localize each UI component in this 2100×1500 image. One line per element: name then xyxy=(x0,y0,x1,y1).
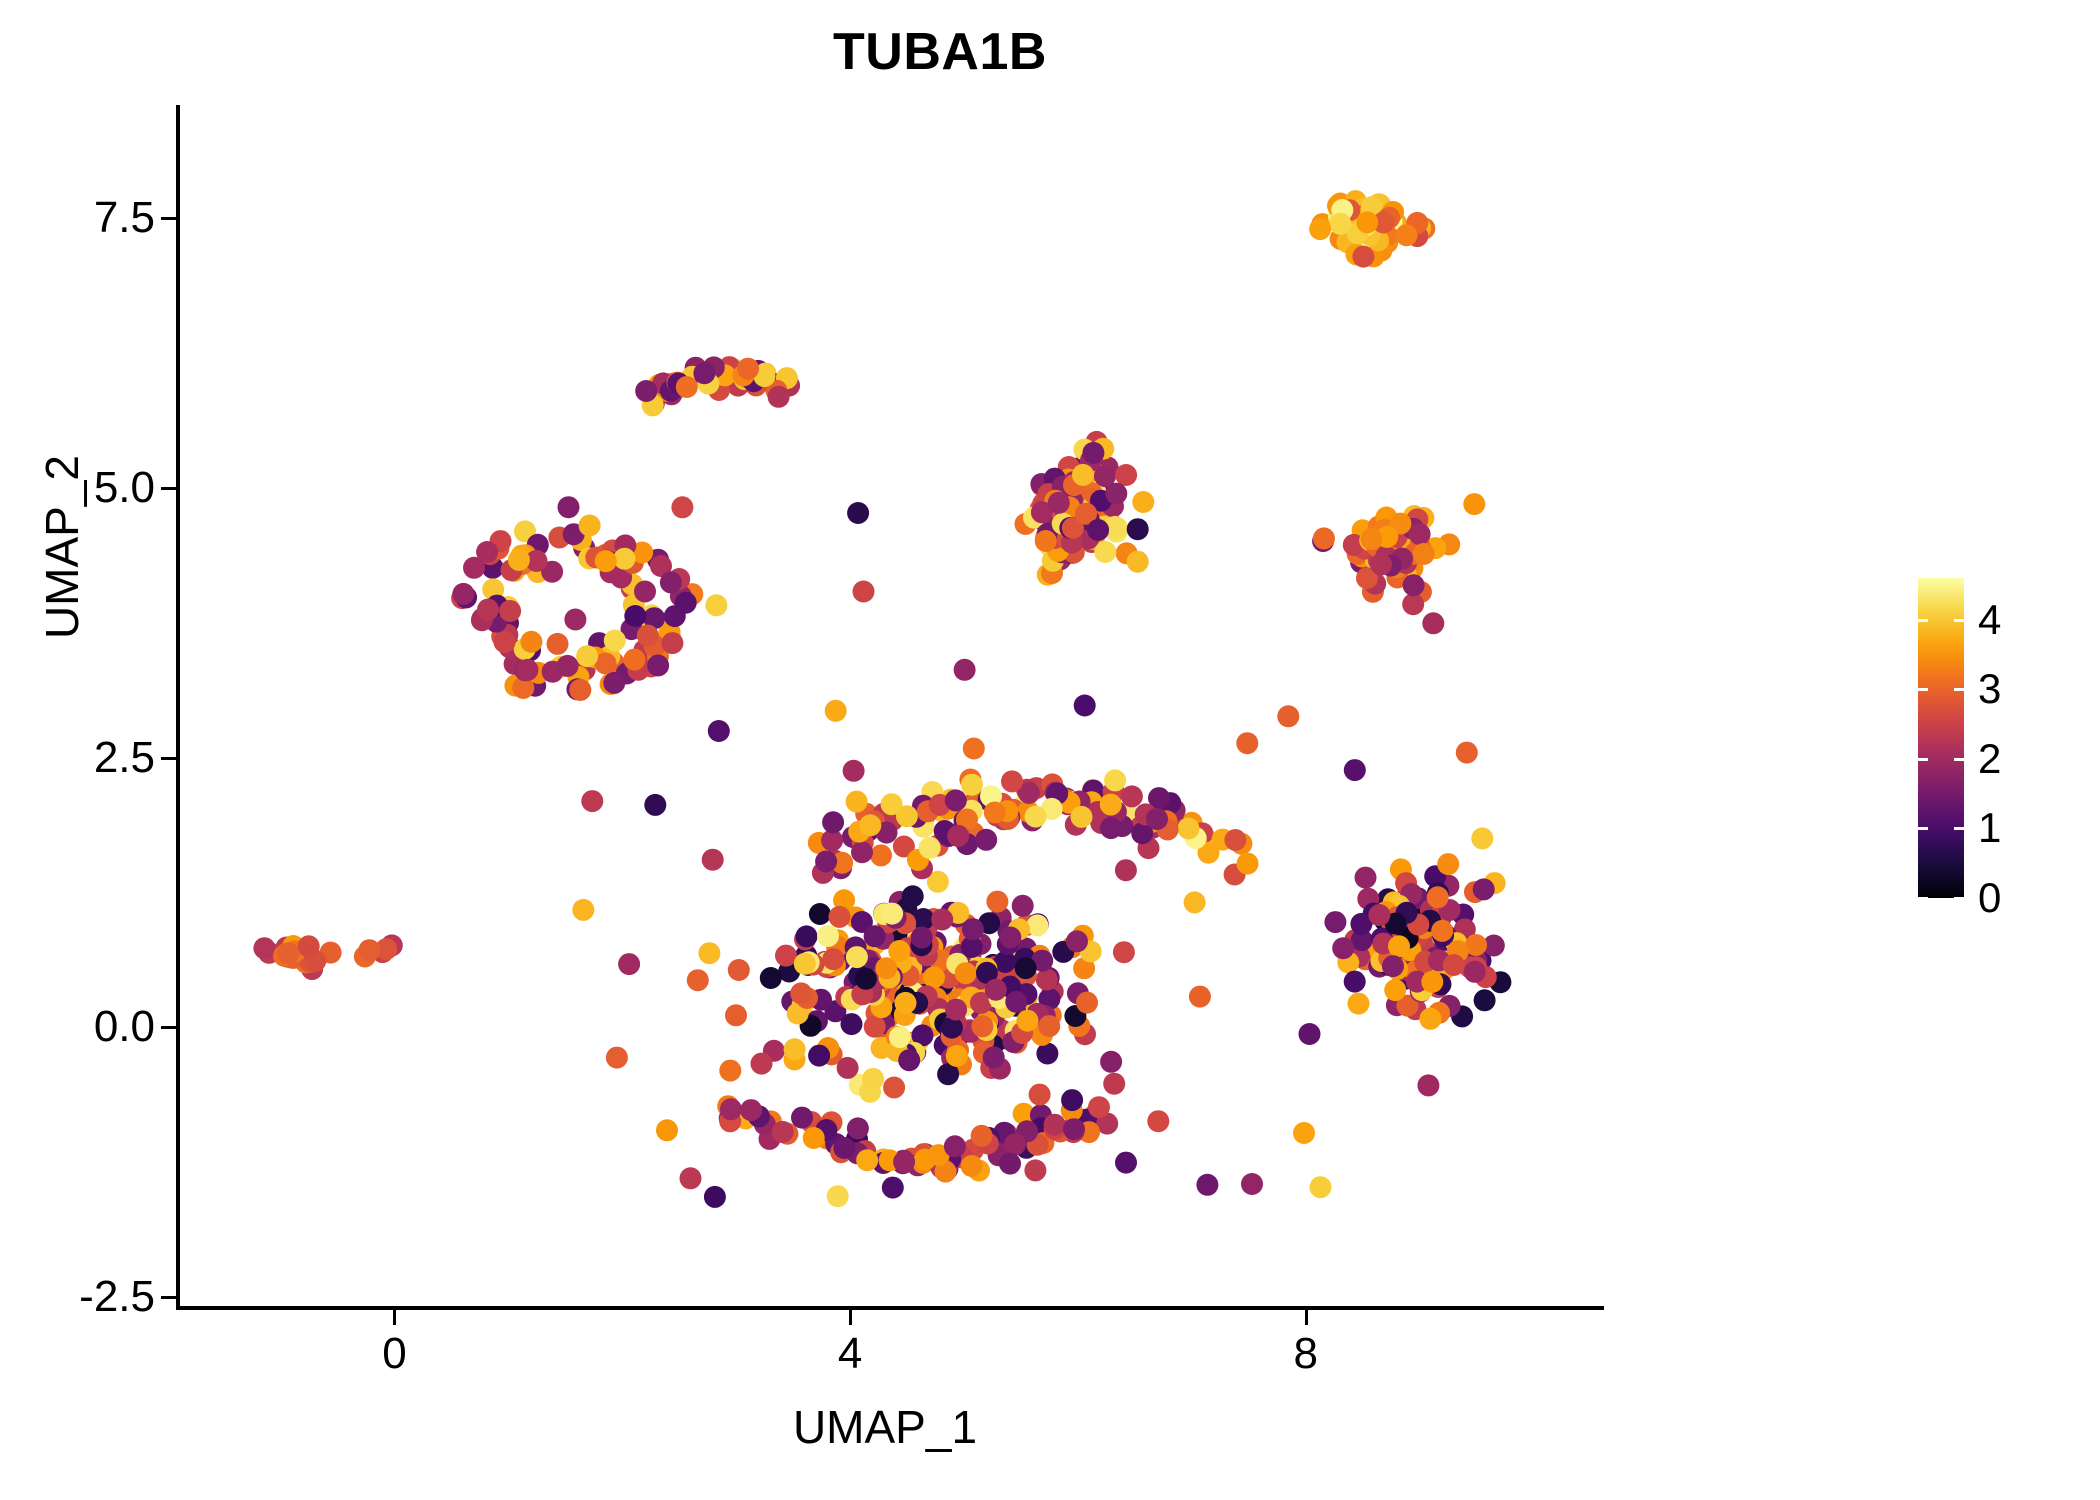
scatter-point xyxy=(1048,492,1070,514)
scatter-point xyxy=(883,1077,905,1099)
scatter-point xyxy=(923,966,945,988)
scatter-point xyxy=(1012,895,1034,917)
scatter-point xyxy=(1071,806,1093,828)
scatter-point xyxy=(971,1015,993,1037)
scatter-point xyxy=(889,1026,911,1048)
scatter-point xyxy=(1044,1114,1066,1136)
scatter-point xyxy=(1061,1089,1083,1111)
scatter-point xyxy=(784,1038,806,1060)
scatter-point xyxy=(986,891,1008,913)
scatter-point xyxy=(637,625,659,647)
scatter-point xyxy=(1036,969,1058,991)
scatter-point xyxy=(1088,1096,1110,1118)
scatter-point xyxy=(760,967,782,989)
scatter-point xyxy=(859,814,881,836)
scatter-point xyxy=(1419,1008,1441,1030)
scatter-points-layer xyxy=(178,105,1602,1308)
scatter-point xyxy=(931,909,953,931)
scatter-point xyxy=(1332,937,1354,959)
scatter-point xyxy=(1236,732,1258,754)
scatter-point xyxy=(822,811,844,833)
scatter-point xyxy=(803,1127,825,1149)
scatter-point xyxy=(1368,904,1390,926)
scatter-point xyxy=(864,1016,886,1038)
scatter-point xyxy=(508,549,530,571)
scatter-point xyxy=(725,1004,747,1026)
scatter-point xyxy=(624,605,646,627)
scatter-point xyxy=(572,899,594,921)
scatter-point xyxy=(606,1047,628,1069)
scatter-point xyxy=(499,600,521,622)
scatter-point xyxy=(790,982,812,1004)
scatter-point xyxy=(1403,574,1425,596)
scatter-point xyxy=(1413,543,1435,565)
y-tick-label: 2.5 xyxy=(5,736,155,780)
x-tick-mark xyxy=(393,1310,396,1325)
scatter-point xyxy=(1076,992,1098,1014)
scatter-point xyxy=(833,1137,855,1159)
scatter-point xyxy=(463,557,485,579)
scatter-point xyxy=(870,844,892,866)
scatter-point xyxy=(1066,930,1088,952)
scatter-point xyxy=(1437,853,1459,875)
scatter-point xyxy=(1431,920,1453,942)
scatter-point xyxy=(862,1068,884,1090)
scatter-point xyxy=(846,946,868,968)
scatter-point xyxy=(751,1053,773,1075)
scatter-point xyxy=(825,700,847,722)
scatter-point xyxy=(740,1099,762,1121)
scatter-point xyxy=(1443,954,1465,976)
scatter-point xyxy=(841,1013,863,1035)
scatter-point xyxy=(815,851,837,873)
scatter-point xyxy=(895,992,917,1014)
scatter-point xyxy=(817,925,839,947)
scatter-point xyxy=(647,655,669,677)
scatter-point xyxy=(614,548,636,570)
scatter-point xyxy=(737,358,759,380)
scatter-point xyxy=(1189,986,1211,1008)
scatter-point xyxy=(1224,829,1246,851)
scatter-point xyxy=(603,672,625,694)
scatter-point xyxy=(253,937,275,959)
scatter-point xyxy=(846,791,868,813)
scatter-point xyxy=(999,927,1021,949)
scatter-point xyxy=(1196,1174,1218,1196)
colorbar-tick-mark xyxy=(1954,827,1964,830)
scatter-point xyxy=(728,959,750,981)
scatter-point xyxy=(477,599,499,621)
scatter-point xyxy=(1344,759,1366,781)
scatter-point xyxy=(656,1119,678,1141)
scatter-point xyxy=(947,825,969,847)
scatter-point xyxy=(644,794,666,816)
scatter-point xyxy=(1237,853,1259,875)
scatter-point xyxy=(944,1135,966,1157)
scatter-point xyxy=(1115,1152,1137,1174)
scatter-point xyxy=(1100,794,1122,816)
scatter-point xyxy=(853,581,875,603)
scatter-point xyxy=(775,945,797,967)
scatter-point xyxy=(708,720,730,742)
scatter-point xyxy=(298,935,320,957)
y-tick-label: -2.5 xyxy=(5,1275,155,1319)
scatter-point xyxy=(1115,464,1137,486)
scatter-point xyxy=(1388,935,1410,957)
y-tick-mark xyxy=(161,757,176,760)
x-tick-label: 8 xyxy=(1246,1332,1366,1376)
scatter-point xyxy=(1029,1084,1051,1106)
scatter-point xyxy=(558,496,580,518)
scatter-point xyxy=(1309,218,1331,240)
scatter-point xyxy=(1100,817,1122,839)
scatter-point xyxy=(705,594,727,616)
scatter-point xyxy=(1356,211,1378,233)
scatter-point xyxy=(1072,464,1094,486)
scatter-point xyxy=(902,885,924,907)
scatter-point xyxy=(946,1045,968,1067)
scatter-point xyxy=(945,999,967,1021)
scatter-point xyxy=(1146,808,1168,830)
scatter-point xyxy=(1087,519,1109,541)
scatter-point xyxy=(881,793,903,815)
scatter-point xyxy=(1015,957,1037,979)
scatter-point xyxy=(809,903,831,925)
scatter-point xyxy=(772,1121,794,1143)
y-tick-mark xyxy=(161,487,176,490)
scatter-point xyxy=(1184,891,1206,913)
y-axis-line xyxy=(176,105,180,1310)
scatter-point xyxy=(1147,1110,1169,1132)
scatter-point xyxy=(822,948,844,970)
y-tick-mark xyxy=(161,1296,176,1299)
scatter-point xyxy=(698,942,720,964)
scatter-point xyxy=(888,940,910,962)
scatter-point xyxy=(843,760,865,782)
scatter-point xyxy=(1409,523,1431,545)
colorbar-tick-mark xyxy=(1954,619,1964,622)
scatter-point xyxy=(579,515,601,537)
scatter-point xyxy=(975,829,997,851)
x-axis-line xyxy=(176,1306,1604,1310)
scatter-point xyxy=(1352,246,1374,268)
scatter-point xyxy=(719,1060,741,1082)
scatter-point xyxy=(1299,1023,1321,1045)
scatter-point xyxy=(1024,1159,1046,1181)
scatter-point xyxy=(794,953,816,975)
y-axis-label: UMAP_2 xyxy=(35,197,89,897)
scatter-point xyxy=(1177,818,1199,840)
plot-panel xyxy=(178,105,1602,1308)
scatter-point xyxy=(984,802,1006,824)
scatter-point xyxy=(1104,769,1126,791)
scatter-point xyxy=(1464,961,1486,983)
colorbar-tick-mark xyxy=(1918,619,1928,622)
scatter-point xyxy=(452,583,474,605)
scatter-point xyxy=(837,1057,859,1079)
scatter-point xyxy=(1038,1015,1060,1037)
scatter-point xyxy=(676,376,698,398)
x-tick-mark xyxy=(849,1310,852,1325)
scatter-point xyxy=(581,790,603,812)
y-tick-label: 0.0 xyxy=(5,1005,155,1049)
scatter-point xyxy=(961,1155,983,1177)
scatter-point xyxy=(963,738,985,760)
scatter-point xyxy=(547,633,569,655)
x-tick-label: 0 xyxy=(334,1332,454,1376)
colorbar-tick-mark xyxy=(1918,897,1928,900)
colorbar-tick-mark xyxy=(1918,827,1928,830)
x-tick-label: 4 xyxy=(790,1332,910,1376)
y-tick-label: 7.5 xyxy=(5,196,155,240)
scatter-point xyxy=(1082,442,1104,464)
scatter-point xyxy=(1277,705,1299,727)
scatter-point xyxy=(1074,695,1096,717)
x-axis-label: UMAP_1 xyxy=(170,1400,1600,1454)
scatter-point xyxy=(898,1049,920,1071)
colorbar-tick-mark xyxy=(1954,758,1964,761)
scatter-point xyxy=(791,1107,813,1129)
x-tick-mark xyxy=(1305,1310,1308,1325)
scatter-point xyxy=(494,631,516,653)
scatter-point xyxy=(1474,989,1496,1011)
colorbar-tick-label: 0 xyxy=(1978,877,2001,919)
scatter-point xyxy=(1132,491,1154,513)
colorbar-tick-mark xyxy=(1918,758,1928,761)
scatter-point xyxy=(693,362,715,384)
colorbar-tick-label: 4 xyxy=(1978,599,2001,641)
scatter-point xyxy=(358,939,380,961)
scatter-point xyxy=(911,927,933,949)
scatter-point xyxy=(1384,979,1406,1001)
scatter-point xyxy=(882,1177,904,1199)
scatter-point xyxy=(557,655,579,677)
scatter-point xyxy=(1456,742,1478,764)
scatter-point xyxy=(1035,530,1057,552)
scatter-point xyxy=(1344,971,1366,993)
scatter-point xyxy=(808,1045,830,1067)
scatter-point xyxy=(595,550,617,572)
scatter-point xyxy=(564,609,586,631)
y-tick-label: 5.0 xyxy=(5,466,155,510)
scatter-point xyxy=(671,496,693,518)
scatter-point xyxy=(856,1149,878,1171)
scatter-point xyxy=(623,649,645,671)
scatter-point xyxy=(634,581,656,603)
scatter-point xyxy=(1127,551,1149,573)
scatter-point xyxy=(945,789,967,811)
scatter-point xyxy=(675,592,697,614)
scatter-point xyxy=(1017,1010,1039,1032)
scatter-point xyxy=(704,1186,726,1208)
scatter-point xyxy=(1100,1051,1122,1073)
scatter-point xyxy=(569,679,591,701)
scatter-point xyxy=(1463,493,1485,515)
colorbar-tick-label: 1 xyxy=(1978,807,2001,849)
scatter-point xyxy=(847,502,869,524)
scatter-point xyxy=(1355,867,1377,889)
colorbar-tick-label: 3 xyxy=(1978,668,2001,710)
scatter-point xyxy=(1103,1073,1125,1095)
scatter-point xyxy=(1241,1173,1263,1195)
scatter-point xyxy=(855,968,877,990)
colorbar-tick-mark xyxy=(1918,688,1928,691)
scatter-point xyxy=(576,645,598,667)
scatter-point xyxy=(1473,878,1495,900)
scatter-point xyxy=(1105,483,1127,505)
scatter-point xyxy=(954,659,976,681)
scatter-point xyxy=(635,380,657,402)
scatter-point xyxy=(1121,785,1143,807)
scatter-point xyxy=(1402,593,1424,615)
scatter-point xyxy=(961,774,983,796)
scatter-point xyxy=(1313,527,1335,549)
colorbar-tick-mark xyxy=(1954,897,1964,900)
scatter-point xyxy=(1026,914,1048,936)
scatter-point xyxy=(1094,541,1116,563)
umap-feature-plot: TUBA1B UMAP_2 UMAP_1 -2.50.02.55.07.5 04… xyxy=(0,0,2100,1500)
scatter-point xyxy=(604,630,626,652)
scatter-point xyxy=(1471,827,1493,849)
scatter-point xyxy=(687,969,709,991)
scatter-point xyxy=(999,1153,1021,1175)
scatter-point xyxy=(971,1125,993,1147)
scatter-point xyxy=(1113,941,1135,963)
scatter-point xyxy=(847,1117,869,1139)
y-tick-mark xyxy=(161,217,176,220)
scatter-point xyxy=(851,841,873,863)
scatter-point xyxy=(1063,1118,1085,1140)
scatter-point xyxy=(680,1167,702,1189)
scatter-point xyxy=(1310,1176,1332,1198)
scatter-point xyxy=(985,979,1007,1001)
scatter-point xyxy=(1427,886,1449,908)
scatter-point xyxy=(919,837,941,859)
scatter-point xyxy=(962,918,984,940)
scatter-point xyxy=(1370,553,1392,575)
scatter-point xyxy=(1036,1043,1058,1065)
colorbar-tick-label: 2 xyxy=(1978,738,2001,780)
colorbar-gradient xyxy=(1918,578,1964,898)
scatter-point xyxy=(702,849,724,871)
scatter-point xyxy=(768,386,790,408)
scatter-point xyxy=(983,1046,1005,1068)
page-title: TUBA1B xyxy=(0,22,1880,82)
scatter-point xyxy=(827,1185,849,1207)
scatter-point xyxy=(720,1098,742,1120)
scatter-point xyxy=(1417,1074,1439,1096)
scatter-point xyxy=(1127,518,1149,540)
scatter-point xyxy=(1025,806,1047,828)
scatter-point xyxy=(893,1151,915,1173)
scatter-point xyxy=(1348,993,1370,1015)
scatter-point xyxy=(660,571,682,593)
scatter-point xyxy=(1001,770,1023,792)
scatter-point xyxy=(881,903,903,925)
scatter-point xyxy=(618,953,640,975)
scatter-point xyxy=(1004,1133,1026,1155)
y-tick-mark xyxy=(161,1026,176,1029)
scatter-point xyxy=(1396,224,1418,246)
scatter-point xyxy=(1329,213,1351,235)
scatter-point xyxy=(829,906,851,928)
scatter-point xyxy=(1115,859,1137,881)
scatter-point xyxy=(1382,955,1404,977)
scatter-point xyxy=(955,962,977,984)
scatter-point xyxy=(1293,1122,1315,1144)
scatter-point xyxy=(661,632,683,654)
scatter-point xyxy=(1422,612,1444,634)
scatter-point xyxy=(1005,991,1027,1013)
scatter-point xyxy=(520,631,542,653)
scatter-point xyxy=(1421,971,1443,993)
colorbar-tick-mark xyxy=(1954,688,1964,691)
scatter-point xyxy=(277,942,299,964)
scatter-point xyxy=(796,925,818,947)
scatter-point xyxy=(864,925,886,947)
scatter-point xyxy=(1324,911,1346,933)
scatter-point xyxy=(1360,528,1382,550)
scatter-point xyxy=(517,659,539,681)
